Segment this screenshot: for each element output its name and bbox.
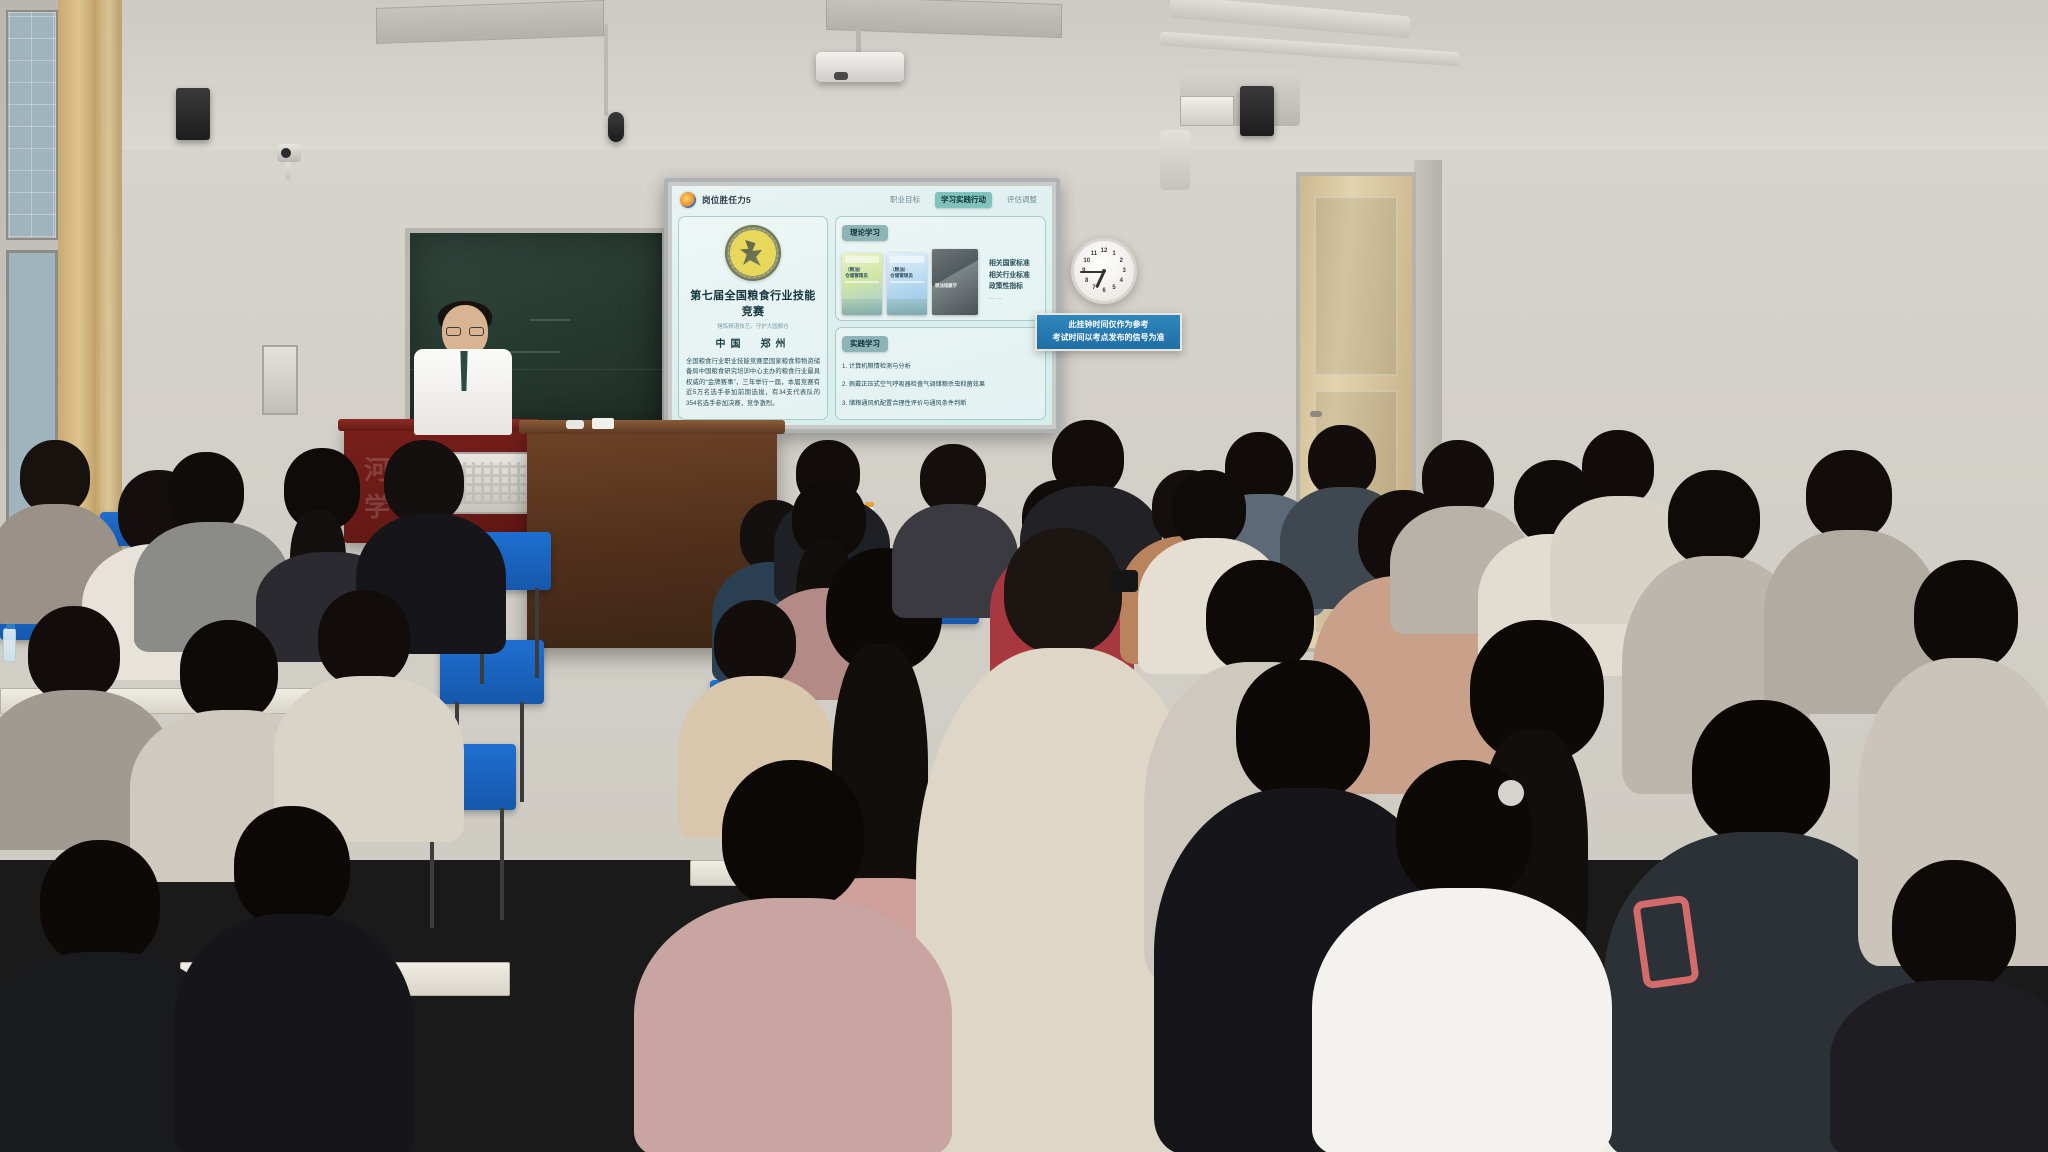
speaker-right	[1240, 86, 1274, 136]
theory-section-heading: 理论学习	[842, 225, 888, 241]
learning-column: 理论学习 （粮油） 仓储管理员	[835, 216, 1046, 420]
chair-leg	[520, 702, 524, 802]
clock-num-11: 11	[1091, 251, 1097, 257]
classroom-photo-scene: 岗位胜任力5 职业目标 学习实践行动 评估调整 第七届全国粮食行业技能竞赛 锤炼…	[0, 0, 2048, 1152]
exam-time-notice-sign: 此挂钟时间仅作为参考 考试时间以考点发布的信号为准	[1035, 313, 1182, 351]
textbook-3-line2: 粮油储藏学	[935, 283, 957, 288]
hanging-microphone	[608, 112, 624, 142]
theory-learning-card: 理论学习 （粮油） 仓储管理员	[835, 216, 1046, 321]
chair-leg	[535, 588, 539, 678]
hair-clip	[1632, 895, 1700, 990]
desk-item-eraser[interactable]	[566, 420, 584, 429]
practice-learning-card: 实践学习 1. 计算机粮情检测与分析 2. 佩戴正压式空气呼吸器检查气调储粮杀虫…	[835, 327, 1046, 420]
slide-tab-bar: 职业目标 学习实践行动 评估调整	[884, 192, 1043, 208]
clock-num-8: 8	[1085, 278, 1088, 284]
presenter	[414, 305, 512, 433]
practice-item-3: 3. 储粮通风机配置合理性评价与通风条件判断	[842, 400, 1039, 409]
textbook-2-line1: （粮油）	[890, 267, 908, 272]
chair-leg	[500, 808, 504, 920]
tab-career-goal[interactable]: 职业目标	[884, 192, 926, 208]
speaker-left	[176, 88, 210, 140]
competition-intro-card: 第七届全国粮食行业技能竞赛 锤炼精湛技艺，守护大国粮仓 中国 郑州 全国粮食行业…	[678, 216, 828, 420]
wall-junction-box	[1180, 96, 1234, 126]
competition-location: 中国 郑州	[716, 335, 791, 350]
tab-evaluation-adjust[interactable]: 评估调整	[1001, 192, 1043, 208]
textbook-1-line1: （粮油）	[845, 267, 863, 272]
clock-center-pin	[1102, 269, 1106, 273]
practice-item-2: 2. 佩戴正压式空气呼吸器检查气调储粮杀虫抑菌效果	[842, 381, 1039, 390]
student-seated	[290, 590, 440, 830]
student-seated	[150, 452, 270, 642]
textbook-1: （粮油） 仓储管理员	[842, 253, 882, 315]
slide-top-title: 岗位胜任力5	[702, 194, 751, 206]
hanging-cable	[604, 24, 608, 116]
projection-screen: 岗位胜任力5 职业目标 学习实践行动 评估调整 第七届全国粮食行业技能竞赛 锤炼…	[664, 178, 1060, 433]
textbook-1-line2: 仓储管理员	[845, 273, 868, 278]
competition-title: 第七届全国粮食行业技能竞赛	[686, 287, 820, 319]
clock-num-1: 1	[1112, 251, 1115, 257]
camera-mount	[285, 162, 291, 180]
clock-num-3: 3	[1122, 268, 1125, 274]
clock-minute-hand	[1080, 271, 1104, 273]
textbook-group: （粮油） 仓储管理员 （粮油） 仓储管理员	[842, 247, 1039, 316]
student-seated-foreground	[1340, 760, 1580, 1152]
competition-description: 全国粮食行业职业技能竞赛是国家粮食和物资储备局中国粮食研究培训中心主办的粮食行业…	[686, 357, 820, 409]
practice-section-heading: 实践学习	[842, 336, 888, 352]
student-seated-foreground	[960, 528, 1160, 1152]
wall-pipe-down	[1160, 130, 1190, 190]
standard-industry: 相关行业标准	[989, 270, 1030, 282]
clock-num-6: 6	[1102, 288, 1105, 294]
standard-national: 相关国家标准	[989, 258, 1030, 270]
clock-num-12: 12	[1101, 248, 1108, 254]
textbook-2-line2: 仓储管理员	[890, 273, 913, 278]
student-seated-foreground	[660, 760, 920, 1152]
projector-mount-arm	[856, 30, 861, 54]
wall-control-box[interactable]	[262, 345, 298, 415]
ceiling-projector	[816, 52, 904, 82]
standards-list: 相关国家标准 相关行业标准 政策性指标 ……	[989, 258, 1030, 304]
competition-emblem-icon	[725, 225, 781, 281]
eyeglasses-icon	[446, 327, 484, 336]
wall-clock: 12 1 2 3 4 5 6 7 8 9 10 11	[1071, 238, 1137, 304]
notice-line-1: 此挂钟时间仅作为参考	[1069, 319, 1149, 332]
hair-tie	[1498, 780, 1524, 806]
student-seated	[0, 606, 150, 836]
clock-num-2: 2	[1120, 258, 1123, 264]
standard-policy: 政策性指标	[989, 281, 1030, 293]
flame-bowl-logo-icon	[680, 192, 696, 208]
textbook-2: （粮油） 仓储管理员	[887, 253, 927, 315]
practice-item-1: 1. 计算机粮情检测与分析	[842, 363, 1039, 372]
desk-item-box[interactable]	[592, 418, 614, 429]
textbook-3: 粮油储藏学	[932, 249, 978, 315]
security-camera-icon	[277, 144, 301, 162]
clock-num-4: 4	[1120, 278, 1123, 284]
projector-lens-icon	[834, 72, 848, 80]
practice-item-list: 1. 计算机粮情检测与分析 2. 佩戴正压式空气呼吸器检查气调储粮杀虫抑菌效果 …	[842, 358, 1039, 414]
student-seated	[196, 806, 386, 1152]
presentation-slide: 岗位胜任力5 职业目标 学习实践行动 评估调整 第七届全国粮食行业技能竞赛 锤炼…	[672, 186, 1052, 425]
slide-body: 第七届全国粮食行业技能竞赛 锤炼精湛技艺，守护大国粮仓 中国 郑州 全国粮食行业…	[678, 216, 1046, 420]
window-security-grid	[8, 12, 56, 238]
door-handle[interactable]	[1310, 411, 1322, 417]
standards-more: ……	[989, 293, 1030, 304]
student-seated	[0, 840, 200, 1152]
clock-num-5: 5	[1112, 285, 1115, 291]
clock-num-10: 10	[1083, 258, 1090, 264]
competition-subtitle: 锤炼精湛技艺，守护大国粮仓	[717, 322, 789, 330]
slide-top-bar: 岗位胜任力5 职业目标 学习实践行动 评估调整	[672, 186, 1052, 213]
student-seated-foreground	[1850, 860, 2048, 1152]
smartphone[interactable]	[1110, 570, 1138, 592]
tab-learning-practice[interactable]: 学习实践行动	[935, 192, 992, 208]
notice-line-2: 考试时间以考点发布的信号为准	[1053, 332, 1165, 345]
